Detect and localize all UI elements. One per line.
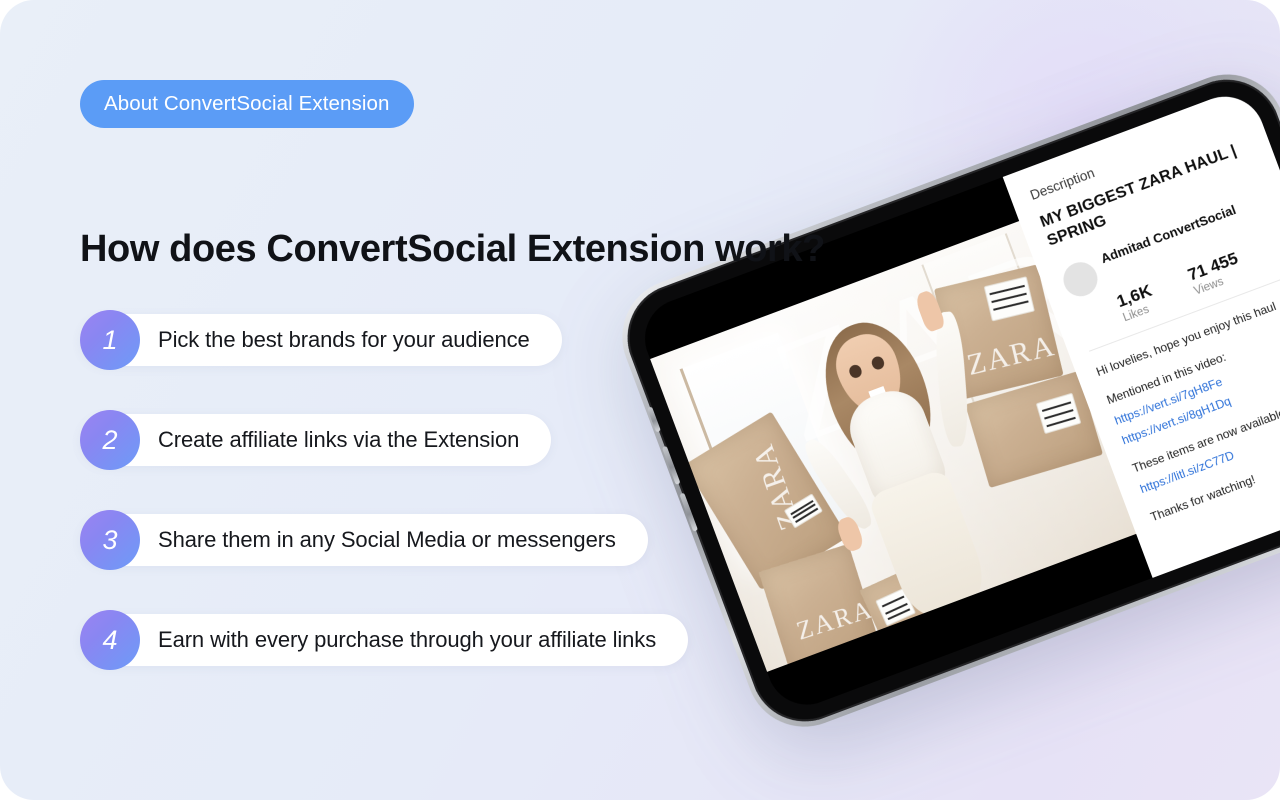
- step-label-4: Earn with every purchase through your af…: [158, 627, 656, 653]
- step-pill-3: Share them in any Social Media or messen…: [80, 514, 648, 566]
- zara-box-logo: ZARA: [964, 329, 1059, 383]
- person-trousers: [867, 468, 992, 624]
- step-number-4: 4: [102, 625, 117, 656]
- step-label-1: Pick the best brands for your audience: [158, 327, 530, 353]
- about-badge-label: About ConvertSocial Extension: [104, 92, 390, 116]
- step-number-1: 1: [102, 325, 117, 356]
- shipping-label: [1036, 393, 1081, 434]
- step-pill-1: Pick the best brands for your audience: [80, 314, 562, 366]
- step-number-3: 3: [102, 525, 117, 556]
- step-number-badge-1: 1: [80, 310, 140, 370]
- step-number-2: 2: [102, 425, 117, 456]
- channel-avatar: [1058, 258, 1102, 302]
- step-item-3: Share them in any Social Media or messen…: [80, 510, 140, 570]
- step-item-1: Pick the best brands for your audience 1: [80, 310, 140, 370]
- likes-stat: 1,6K Likes: [1114, 281, 1159, 324]
- step-item-2: Create affiliate links via the Extension…: [80, 410, 140, 470]
- step-label-2: Create affiliate links via the Extension: [158, 427, 519, 453]
- step-item-4: Earn with every purchase through your af…: [80, 610, 140, 670]
- step-number-badge-3: 3: [80, 510, 140, 570]
- page-title: How does ConvertSocial Extension work?: [80, 223, 825, 275]
- step-label-3: Share them in any Social Media or messen…: [158, 527, 616, 553]
- steps-list: Pick the best brands for your audience 1…: [80, 310, 140, 670]
- step-number-badge-4: 4: [80, 610, 140, 670]
- hero-section: ZARA ZARA ZARA: [0, 0, 1280, 800]
- step-number-badge-2: 2: [80, 410, 140, 470]
- step-pill-2: Create affiliate links via the Extension: [80, 414, 551, 466]
- step-pill-4: Earn with every purchase through your af…: [80, 614, 688, 666]
- about-badge: About ConvertSocial Extension: [80, 80, 414, 128]
- shipping-label: [984, 276, 1036, 321]
- views-stat: 71 455 Views: [1185, 249, 1245, 298]
